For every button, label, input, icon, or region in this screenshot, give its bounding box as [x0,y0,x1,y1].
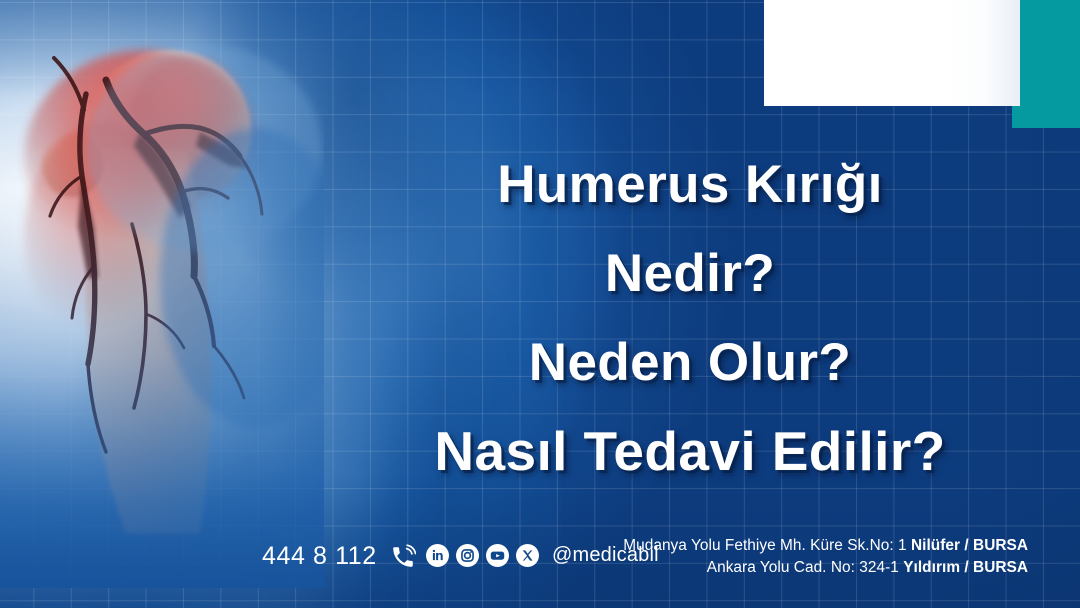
x-twitter-icon[interactable] [516,544,539,567]
linkedin-icon[interactable] [426,544,449,567]
instagram-icon[interactable] [456,544,479,567]
phone-number: 444 8 112 [262,542,377,571]
headline-line-4: Nasıl Tedavi Edilir? [330,407,1050,496]
address-block: Mudanya Yolu Fethiye Mh. Küre Sk.No: 1 N… [623,535,1028,578]
address-line-1: Mudanya Yolu Fethiye Mh. Küre Sk.No: 1 N… [623,535,1028,557]
address-line-1-street: Mudanya Yolu Fethiye Mh. Küre Sk.No: 1 [623,537,911,554]
address-line-2-city: Yıldırım / BURSA [903,559,1028,576]
teal-accent-block [1012,0,1080,128]
footer-bar: 444 8 112 [0,526,1080,608]
headline-line-1: Humerus Kırığı [330,140,1050,229]
fractured-humerus-illustration [0,28,324,588]
phone-ring-icon [390,544,416,570]
youtube-icon[interactable] [486,544,509,567]
headline: Humerus Kırığı Nedir? Neden Olur? Nasıl … [330,140,1050,496]
address-line-2-street: Ankara Yolu Cad. No: 324-1 [707,559,903,576]
logo-panel: MEDICABIL Sağlık Grubu [764,0,1020,106]
headline-line-2: Nedir? [330,229,1050,318]
phone-contact[interactable]: 444 8 112 [262,542,416,571]
promo-banner: MEDICABIL Sağlık Grubu Humerus Kırığı Ne… [0,0,1080,608]
headline-line-3: Neden Olur? [330,318,1050,407]
address-line-1-city: Nilüfer / BURSA [911,537,1028,554]
address-line-2: Ankara Yolu Cad. No: 324-1 Yıldırım / BU… [623,557,1028,579]
